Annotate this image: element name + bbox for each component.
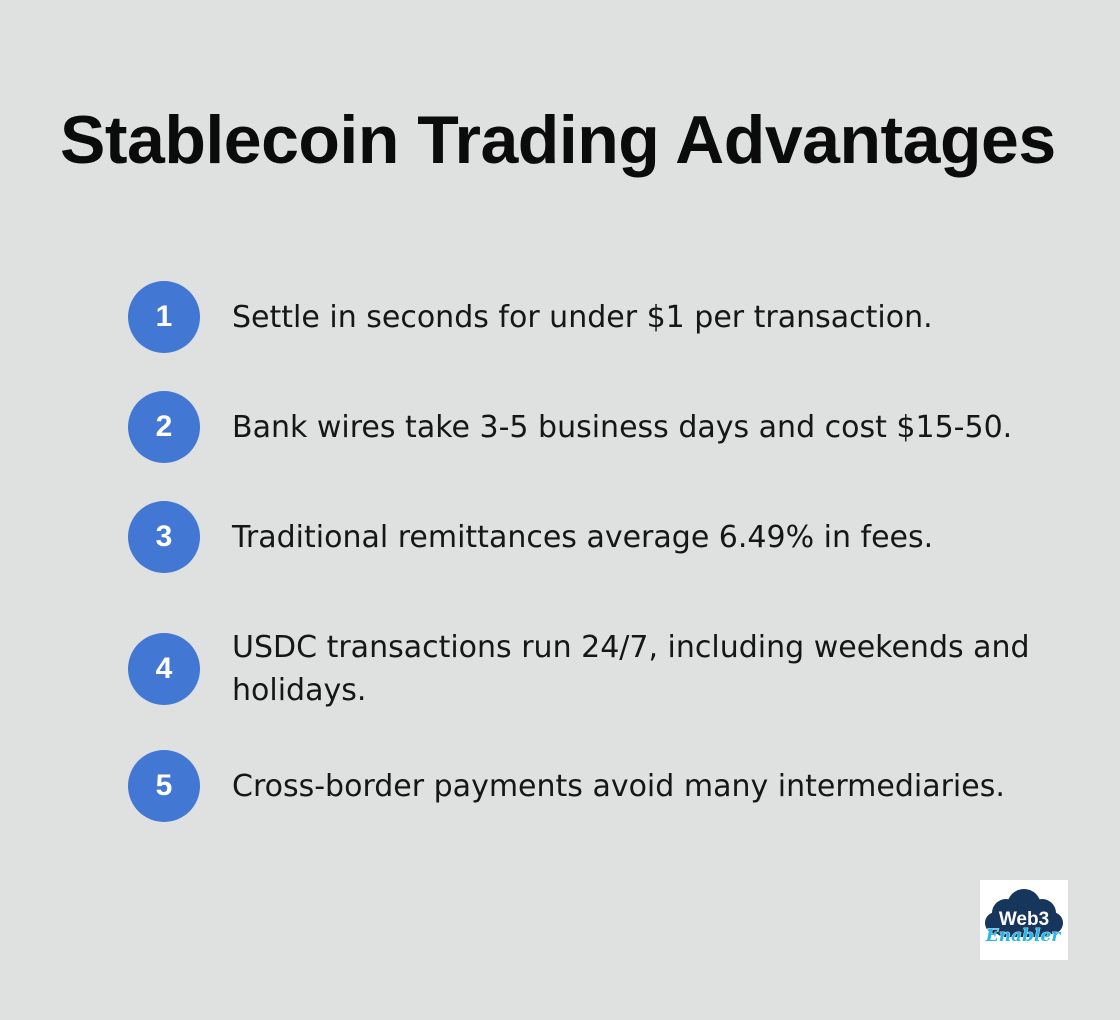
page-title: Stablecoin Trading Advantages [60, 104, 1060, 177]
cloud-logo-icon: Web3 Enabler [980, 880, 1068, 960]
logo-secondary-text: Enabler [985, 926, 1061, 946]
list-item: 1 Settle in seconds for under $1 per tra… [128, 281, 1048, 353]
list-item: 3 Traditional remittances average 6.49% … [128, 501, 1048, 573]
brand-logo: Web3 Enabler [980, 880, 1068, 960]
list-item-text: USDC transactions run 24/7, including we… [232, 611, 1032, 712]
list-item-number-badge: 1 [128, 281, 200, 353]
list-item-number-badge: 2 [128, 391, 200, 463]
list-item-number-badge: 4 [128, 633, 200, 705]
list-item: 2 Bank wires take 3-5 business days and … [128, 391, 1048, 463]
list-item: 4 USDC transactions run 24/7, including … [128, 611, 1048, 712]
list-item-text: Settle in seconds for under $1 per trans… [232, 281, 1032, 339]
list-item: 5 Cross-border payments avoid many inter… [128, 750, 1048, 822]
infographic-canvas: Stablecoin Trading Advantages 1 Settle i… [0, 0, 1120, 1020]
list-item-number-badge: 3 [128, 501, 200, 573]
list-item-text: Bank wires take 3-5 business days and co… [232, 391, 1032, 449]
list-item-text: Cross-border payments avoid many interme… [232, 750, 1032, 808]
list-item-number-badge: 5 [128, 750, 200, 822]
advantages-list: 1 Settle in seconds for under $1 per tra… [128, 281, 1048, 822]
list-item-text: Traditional remittances average 6.49% in… [232, 501, 1032, 559]
